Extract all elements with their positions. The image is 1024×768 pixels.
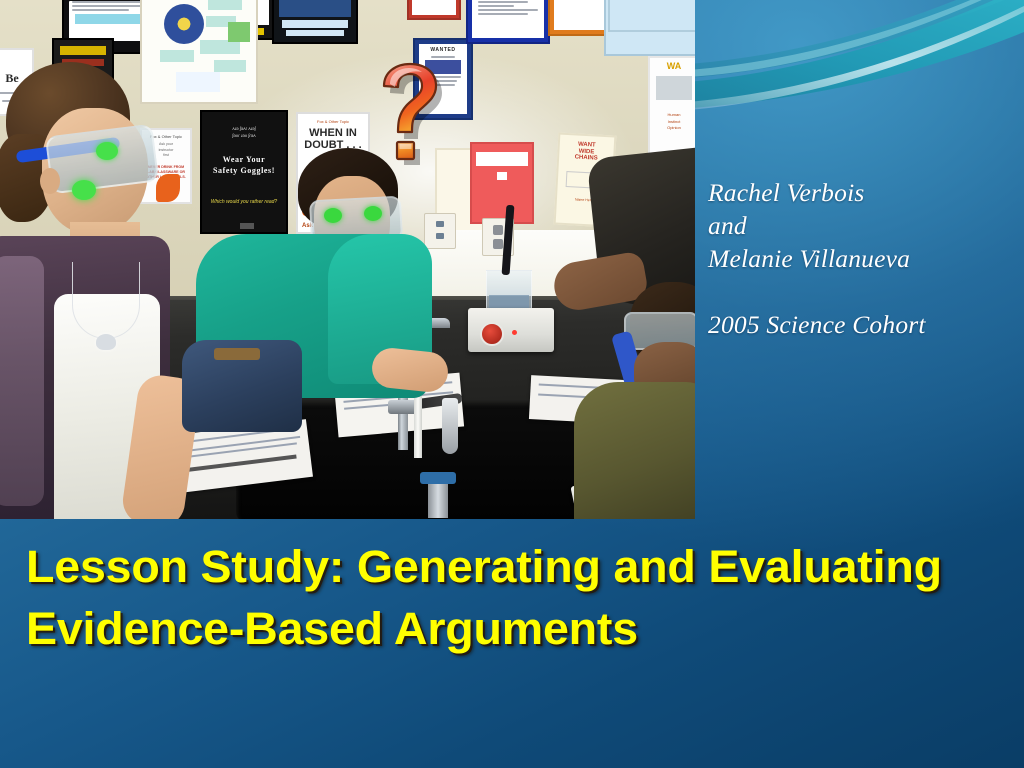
magnetic-stirrer xyxy=(468,308,554,352)
slide-title-line-1: Lesson Study: Generating and Evaluating xyxy=(26,536,1024,598)
poster-top-3 xyxy=(272,0,358,44)
person-student-teal xyxy=(178,150,448,430)
presenter-name-2: Melanie Villanueva xyxy=(708,244,910,273)
person-student-right xyxy=(568,286,695,519)
stirrer-dial xyxy=(480,322,504,346)
title-slide: WANTED ʌɹə ʃə xyxy=(0,0,1024,768)
binder-red xyxy=(470,142,534,224)
byline-conjunction: and xyxy=(708,211,747,240)
poster-wanted-center: WANTED xyxy=(413,38,473,120)
stirrer-indicator-light xyxy=(512,330,517,335)
poster-blue-sheet-top xyxy=(608,0,695,32)
cohort-label: 2005 Science Cohort xyxy=(708,308,1008,341)
poster-red-frame xyxy=(407,0,461,20)
slide-title: Lesson Study: Generating and Evaluating … xyxy=(26,536,1024,660)
gas-valve-stem xyxy=(428,478,448,518)
presenter-name-1: Rachel Verbois xyxy=(708,178,864,207)
classroom-photo: WANTED ʌɹə ʃə xyxy=(0,0,695,519)
poster-blue-frame xyxy=(466,0,550,44)
person-student-left xyxy=(0,56,194,519)
presenter-byline: Rachel Verbois and Melanie Villanueva 20… xyxy=(708,176,1008,341)
slide-title-line-2: Evidence-Based Arguments xyxy=(26,598,1024,660)
gas-valve-handle xyxy=(420,472,456,484)
